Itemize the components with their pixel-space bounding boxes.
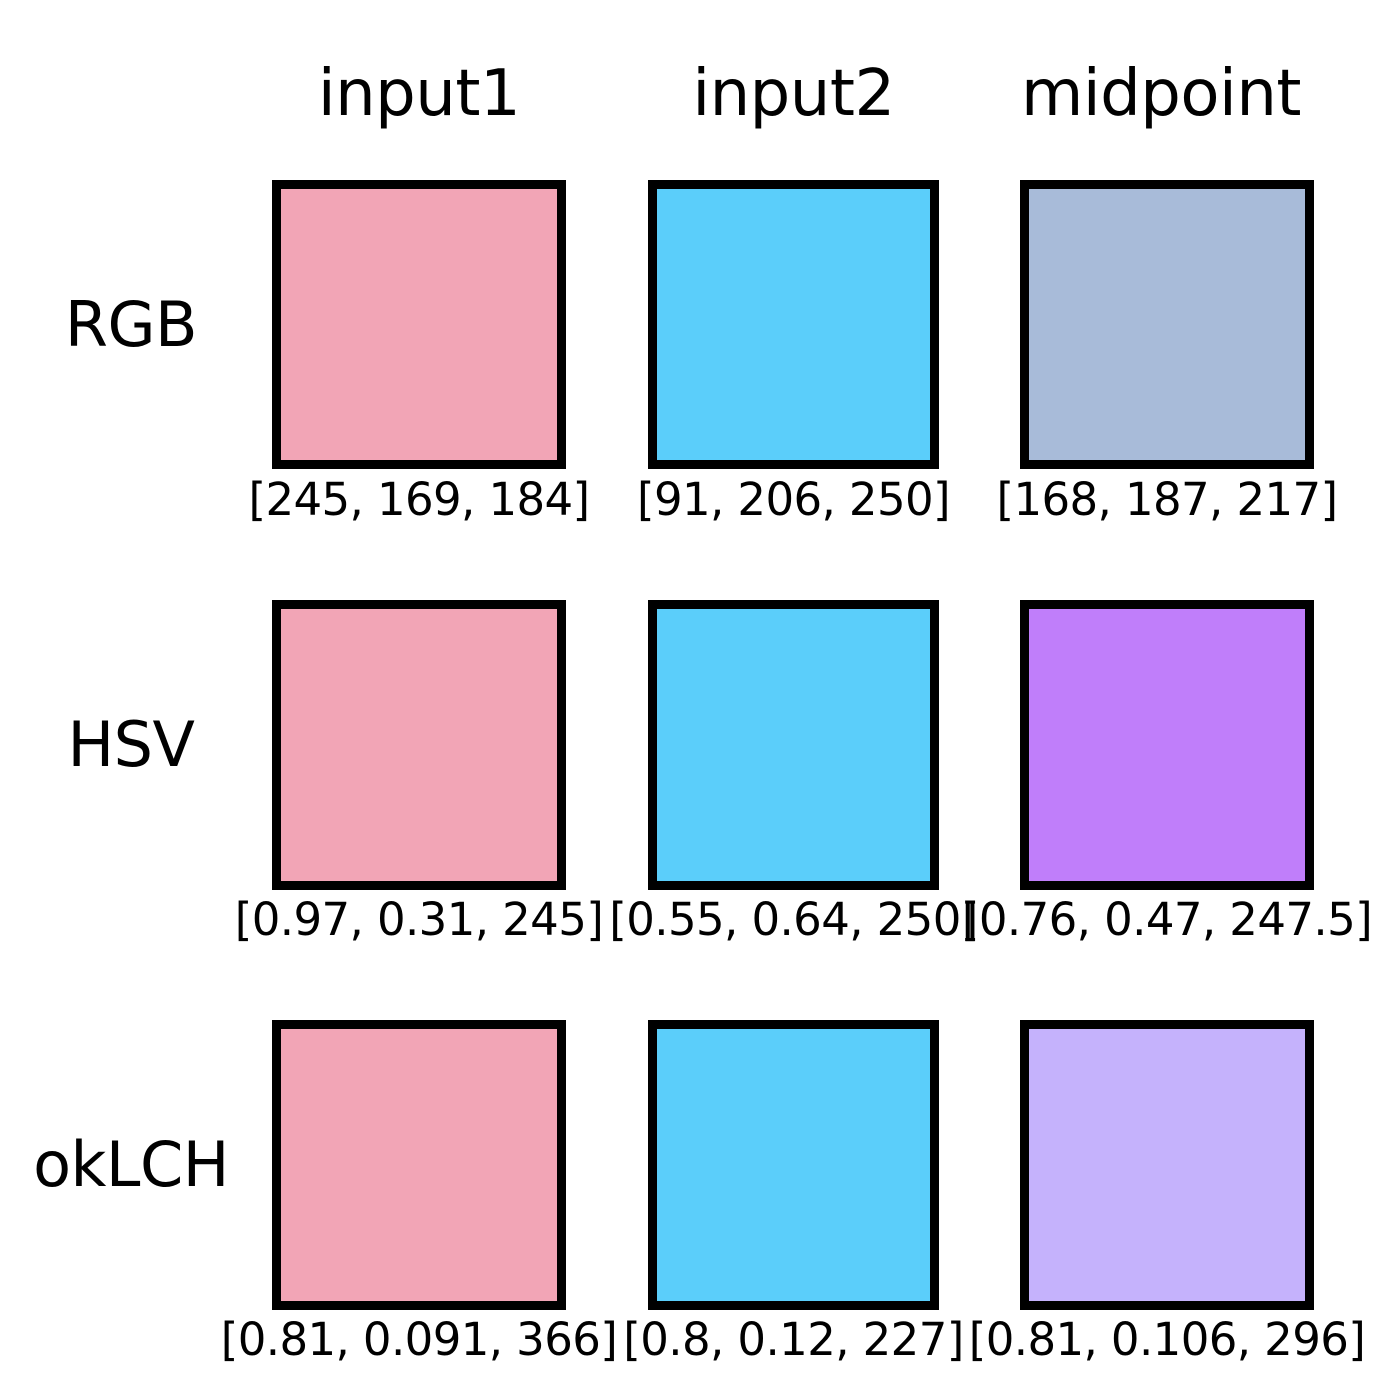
column-header-input1: input1 <box>272 52 566 136</box>
color-value-oklch-input1: [0.81, 0.091, 366] <box>212 1312 626 1368</box>
color-value-hsv-input2: [0.55, 0.64, 250] <box>588 892 999 948</box>
color-swatch-rgb-input2 <box>648 180 939 469</box>
color-swatch-hsv-midpoint <box>1020 600 1314 890</box>
color-swatch-oklch-midpoint <box>1020 1020 1314 1310</box>
color-value-rgb-input1: [245, 169, 184] <box>212 472 626 528</box>
color-swatch-hsv-input2 <box>648 600 939 890</box>
color-swatch-oklch-input1 <box>272 1020 566 1310</box>
color-midpoint-figure: input1 input2 midpoint RGB HSV okLCH [24… <box>0 0 1400 1400</box>
color-value-hsv-input1: [0.97, 0.31, 245] <box>212 892 626 948</box>
row-label-rgb: RGB <box>0 288 262 361</box>
color-value-hsv-midpoint: [0.76, 0.47, 247.5] <box>960 892 1374 948</box>
color-value-oklch-midpoint: [0.81, 0.106, 296] <box>960 1312 1374 1368</box>
color-value-rgb-midpoint: [168, 187, 217] <box>960 472 1374 528</box>
color-swatch-hsv-input1 <box>272 600 566 890</box>
column-header-midpoint: midpoint <box>1008 52 1314 136</box>
color-swatch-rgb-midpoint <box>1020 180 1314 469</box>
row-label-oklch: okLCH <box>0 1128 262 1201</box>
row-label-hsv: HSV <box>0 708 262 781</box>
color-swatch-rgb-input1 <box>272 180 566 469</box>
column-header-input2: input2 <box>648 52 939 136</box>
color-swatch-oklch-input2 <box>648 1020 939 1310</box>
color-value-rgb-input2: [91, 206, 250] <box>588 472 999 528</box>
color-value-oklch-input2: [0.8, 0.12, 227] <box>588 1312 999 1368</box>
